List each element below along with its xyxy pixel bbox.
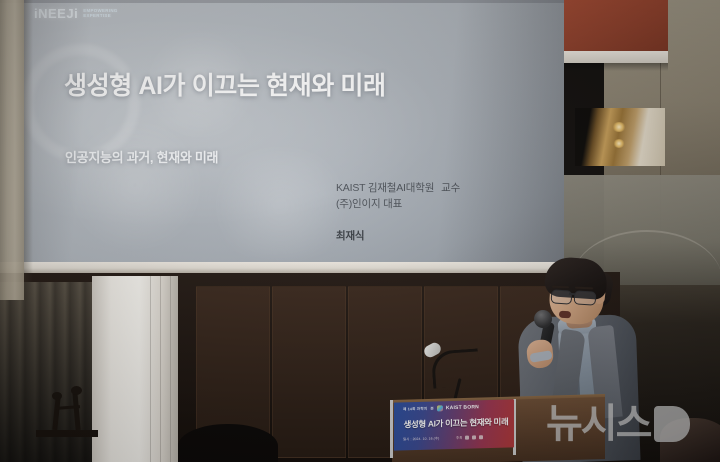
left-wall-strip xyxy=(0,0,24,300)
wood-panel xyxy=(272,286,346,458)
column-groove xyxy=(160,276,161,462)
glasses-bridge xyxy=(569,293,575,295)
red-panel-edge xyxy=(560,51,668,63)
display-ledge xyxy=(36,430,98,437)
sculpture-head xyxy=(52,392,62,400)
ceiling-lamp-reflection xyxy=(612,122,626,132)
left-wall-strip-shadow xyxy=(24,0,33,300)
screen-top-edge xyxy=(0,0,564,3)
sponsor-logo-icon xyxy=(479,435,483,439)
photograph-canvas: iNEEJi EMPOWERING EXPERTISE 생성형 AI가 이끄는 … xyxy=(0,0,720,462)
glasses-lens-left xyxy=(551,289,573,304)
sponsor-logo-icon xyxy=(472,435,476,439)
glasses-lens-right xyxy=(574,290,597,306)
banner-brand: KAIST BORN xyxy=(446,404,479,411)
screen-vignette xyxy=(0,0,564,272)
gold-mirror-reflection xyxy=(575,108,665,166)
banner-logo-icon xyxy=(437,405,443,411)
banner-meta-right: 주최 xyxy=(456,434,483,440)
audience-head-silhouette xyxy=(178,424,278,462)
speaker-mouth xyxy=(559,311,571,319)
red-wall-panel xyxy=(560,0,668,52)
column-groove xyxy=(170,276,171,462)
ceiling-lamp-reflection xyxy=(613,139,625,148)
sculpture-head xyxy=(71,386,82,395)
sponsor-logo-icon xyxy=(465,435,469,439)
banner-title: 생성형 AI가 이끄는 현재와 미래 xyxy=(400,415,512,430)
podium-rail-left xyxy=(390,400,393,458)
projection-screen: iNEEJi EMPOWERING EXPERTISE 생성형 AI가 이끄는 … xyxy=(0,0,564,272)
newsis-watermark: 뉴시스 xyxy=(546,404,690,444)
red-panel-shadow xyxy=(560,63,668,71)
white-column xyxy=(92,276,178,462)
banner-event-prefix: 제 14회 과학의 xyxy=(403,406,427,412)
watermark-text: 뉴시스 xyxy=(546,404,650,444)
column-groove xyxy=(150,276,151,462)
banner-event-line: 제 14회 과학의 본 KAIST BORN xyxy=(403,404,479,412)
banner-host-label: 주최 xyxy=(456,435,462,440)
watermark-logo-icon xyxy=(654,406,690,442)
podium-banner: 제 14회 과학의 본 KAIST BORN 생성형 AI가 이끄는 현재와 미… xyxy=(394,399,514,450)
banner-meta-left: 일시 : 2024. 10. 16.(수) xyxy=(403,435,439,441)
screen-bottom-frame xyxy=(0,262,564,273)
banner-event-mark: 본 xyxy=(430,406,434,411)
